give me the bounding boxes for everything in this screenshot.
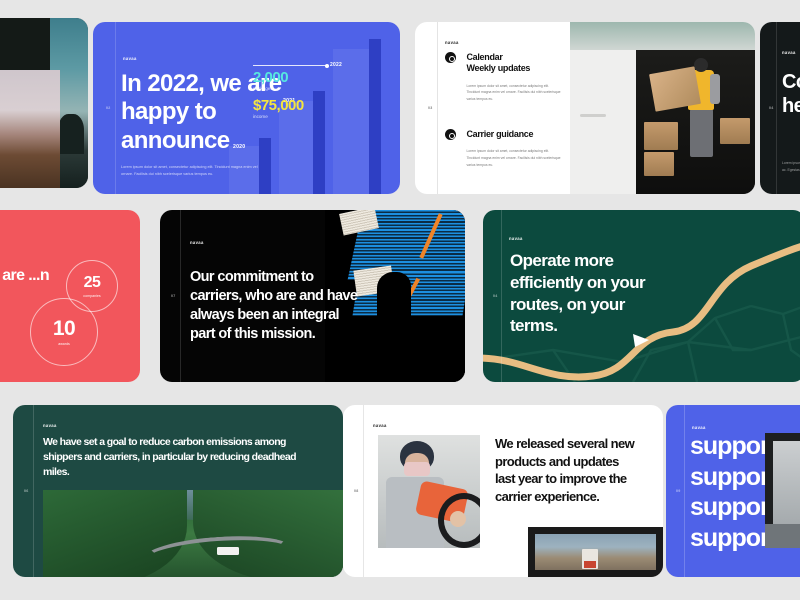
- slide-title: We released several new products and upd…: [495, 435, 635, 505]
- cargo-box: [644, 152, 674, 176]
- page-number: 06: [24, 489, 28, 493]
- slide-operate-map[interactable]: navaa 04 Operate more efficiently on you…: [483, 210, 800, 382]
- cab-window-frame: [528, 527, 663, 577]
- page-number: 07: [171, 294, 175, 298]
- slide-title: Committed to help: [782, 70, 800, 119]
- carried-parcel: [649, 66, 701, 111]
- delivery-photo: [570, 22, 755, 194]
- stat-packages-label: packages: [253, 86, 304, 91]
- stat-number: 10: [53, 318, 75, 339]
- slide-committed[interactable]: navaa 04 Committed to help Lorem ipsum d…: [760, 22, 800, 194]
- stats-group: 2,000 packages $75,000 income: [253, 70, 304, 126]
- page-number: 08: [354, 489, 358, 493]
- feature-body: Lorem ipsum dolor sit amet, consectetur …: [466, 148, 561, 168]
- slide-dark-photo[interactable]: [0, 18, 88, 188]
- courier-head: [694, 58, 708, 72]
- slide-body-text: Lorem ipsum dolor sit amet, magna enim a…: [782, 160, 800, 174]
- cargo-box: [644, 122, 678, 150]
- stat-packages-value: 2,000: [253, 70, 304, 86]
- warehouse-floor: [765, 524, 800, 548]
- slide-commitment[interactable]: navaa 07 Our commitment to carriers, who…: [160, 210, 465, 382]
- photo-frame: [0, 70, 60, 188]
- slide-title: Our commitment to carriers, who are and …: [190, 268, 365, 345]
- navaa-logo: navaa: [782, 50, 796, 55]
- page-number: 09: [676, 489, 680, 493]
- mountain-road-photo: [43, 490, 343, 577]
- slide-deck-board: navaa 02 2020 2021 2022 In 2022, we are …: [0, 0, 800, 600]
- navaa-logo: navaa: [123, 56, 137, 61]
- navaa-logo: navaa: [692, 425, 706, 430]
- feature-heading: Carrier guidance: [466, 129, 561, 140]
- feature-item[interactable]: Calendar Weekly updates Lorem ipsum dolo…: [445, 52, 565, 105]
- silhouette-shape: [58, 114, 84, 154]
- truck-icon: [217, 547, 239, 555]
- stat-income-label: income: [253, 114, 304, 119]
- slide-title: Operate more efficiently on your routes,…: [510, 250, 670, 337]
- cargo-box: [720, 118, 750, 144]
- stat-label: awards: [58, 342, 70, 346]
- driver-hand: [450, 511, 466, 527]
- compass-icon: [445, 129, 456, 140]
- navaa-logo: navaa: [190, 240, 204, 245]
- slide-left-rule: [180, 210, 181, 382]
- slide-carbon-goal[interactable]: navaa 06 We have set a goal to reduce ca…: [13, 405, 343, 577]
- bar-face: [333, 49, 369, 194]
- page-number: 04: [493, 294, 497, 298]
- feature-heading: Calendar Weekly updates: [466, 52, 561, 75]
- slide-announcement[interactable]: navaa 02 2020 2021 2022 In 2022, we are …: [93, 22, 400, 194]
- stat-income-value: $75,000: [253, 98, 304, 114]
- courier-arm: [710, 74, 720, 104]
- page-number: 04: [769, 106, 773, 110]
- callout-year-label: 2022: [330, 62, 342, 68]
- slide-left-rule: [33, 405, 34, 577]
- slide-left-rule: [501, 210, 502, 382]
- slide-body-text: Lorem ipsum dolor sit amet, consectetur …: [121, 164, 266, 178]
- feature-body: Lorem ipsum dolor sit amet, consectetur …: [466, 83, 561, 103]
- slide-left-rule: [437, 22, 438, 194]
- calendar-icon: [445, 52, 456, 63]
- road-view-photo: [528, 527, 663, 577]
- courier-legs: [690, 109, 713, 157]
- bar-side: [313, 91, 325, 194]
- navaa-logo: navaa: [509, 236, 523, 241]
- stat-circle-awards: 10 awards: [30, 298, 98, 366]
- slide-calendar-features[interactable]: navaa 03 Calendar Weekly updates Lorem i…: [415, 22, 755, 194]
- slide-left-rule: [363, 405, 364, 577]
- slide-supports[interactable]: navaa 09 supports supports supports supp…: [666, 405, 800, 577]
- stat-number: 25: [84, 275, 101, 291]
- slide-stats-pink[interactable]: ...s ...d are ...n 25 companies 10 award…: [0, 210, 140, 382]
- slide-title: We have set a goal to reduce carbon emis…: [43, 435, 323, 480]
- stat-label: companies: [83, 294, 100, 298]
- feature-list: Calendar Weekly updates Lorem ipsum dolo…: [445, 52, 565, 194]
- feature-item[interactable]: Carrier guidance Lorem ipsum dolor sit a…: [445, 129, 565, 171]
- driver-mask: [404, 462, 430, 476]
- callout-leader-line: [253, 65, 326, 66]
- bar-side: [369, 39, 381, 194]
- slide-left-rule: [776, 22, 777, 194]
- van-door-handle: [580, 114, 606, 117]
- van-body: [570, 50, 636, 194]
- navaa-logo: navaa: [445, 40, 459, 45]
- slide-products[interactable]: navaa 08 We released several new product…: [343, 405, 663, 577]
- navaa-logo: navaa: [373, 423, 387, 428]
- page-number: 02: [106, 106, 110, 110]
- slide-left-rule: [684, 405, 685, 577]
- slide-left-rule: [115, 22, 116, 194]
- page-number: 03: [428, 106, 432, 110]
- warehouse-photo: [765, 433, 800, 548]
- navaa-logo: navaa: [43, 423, 57, 428]
- driver-portrait-photo: [378, 435, 480, 548]
